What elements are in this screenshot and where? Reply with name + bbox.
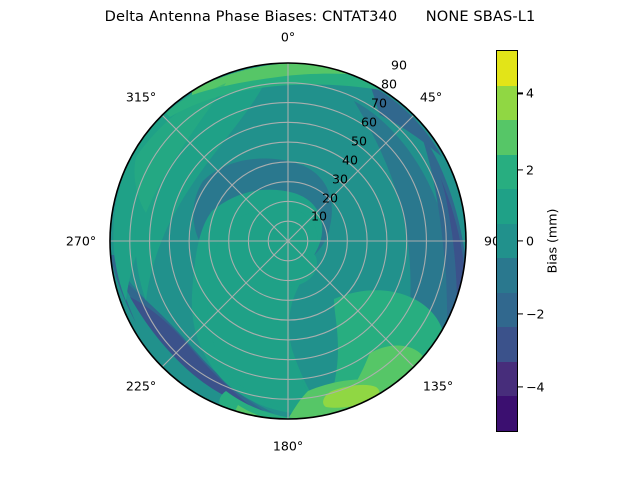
colorbar-band-3-4 bbox=[497, 86, 517, 121]
colorbar-band-bottom bbox=[497, 396, 517, 431]
r-label-30: 30 bbox=[332, 172, 348, 187]
colorbar-band-m1-0 bbox=[497, 224, 517, 259]
theta-label-180: 180° bbox=[273, 439, 303, 454]
colorbar-band-1-2 bbox=[497, 155, 517, 190]
r-label-80: 80 bbox=[381, 77, 397, 92]
theta-label-135: 135° bbox=[423, 379, 453, 394]
polar-chart-canvas bbox=[108, 61, 468, 421]
colorbar-tick-mark-m4 bbox=[518, 386, 523, 387]
theta-label-315: 315° bbox=[126, 90, 156, 105]
colorbar-tick-mark-2 bbox=[518, 169, 523, 170]
theta-label-225: 225° bbox=[126, 379, 156, 394]
theta-label-0: 0° bbox=[281, 30, 295, 45]
colorbar-band-m3-m2 bbox=[497, 293, 517, 328]
colorbar-band-2-3 bbox=[497, 120, 517, 155]
colorbar-tick-label-0: 0 bbox=[526, 234, 534, 249]
r-label-90: 90 bbox=[391, 58, 407, 73]
r-label-40: 40 bbox=[342, 153, 358, 168]
colorbar-band-m5-m4 bbox=[497, 362, 517, 397]
page-title: Delta Antenna Phase Biases: CNTAT340 NON… bbox=[0, 8, 640, 25]
colorbar[interactable]: 4 2 0 −2 −4 bbox=[496, 50, 518, 432]
colorbar-tick-mark-4 bbox=[518, 93, 523, 94]
polar-plot-area[interactable]: 0° 45° 90 135° 180° 225° 270° 315° 10 20… bbox=[108, 61, 468, 421]
colorbar-tick-label-2: 2 bbox=[526, 162, 534, 177]
colorbar-tick-label-m2: −2 bbox=[526, 306, 545, 321]
colorbar-band-m2-m1 bbox=[497, 258, 517, 293]
colorbar-gradient bbox=[496, 50, 518, 432]
theta-label-270: 270° bbox=[66, 234, 96, 249]
theta-label-45: 45° bbox=[420, 90, 442, 105]
r-label-60: 60 bbox=[361, 115, 377, 130]
r-label-20: 20 bbox=[322, 191, 338, 206]
r-label-10: 10 bbox=[311, 209, 327, 224]
colorbar-band-0-1 bbox=[497, 189, 517, 224]
colorbar-axis-label: Bias (mm) bbox=[545, 209, 560, 274]
r-label-50: 50 bbox=[351, 134, 367, 149]
polar-grid bbox=[110, 63, 466, 419]
r-label-70: 70 bbox=[371, 96, 387, 111]
colorbar-band-m4-m3 bbox=[497, 327, 517, 362]
colorbar-tick-label-4: 4 bbox=[526, 86, 534, 101]
colorbar-band-4-5 bbox=[497, 51, 517, 86]
colorbar-tick-mark-m2 bbox=[518, 313, 523, 314]
colorbar-tick-mark-0 bbox=[518, 240, 523, 241]
colorbar-tick-label-m4: −4 bbox=[526, 379, 545, 394]
